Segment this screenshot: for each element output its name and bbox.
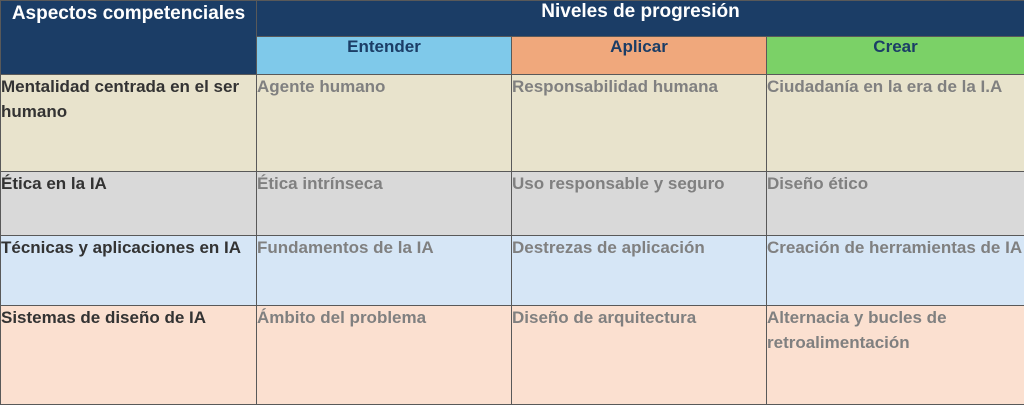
aspect-cell: Sistemas de diseño de IA bbox=[1, 306, 257, 405]
column-header-aplicar[interactable]: Aplicar bbox=[512, 37, 767, 75]
header-row-top: Aspectos competenciales Niveles de progr… bbox=[1, 1, 1024, 37]
aspect-cell: Técnicas y aplicaciones en IA bbox=[1, 236, 257, 306]
table-row: Sistemas de diseño de IA Ámbito del prob… bbox=[1, 306, 1024, 405]
level-cell-aplicar: Diseño de arquitectura bbox=[512, 306, 767, 405]
aspect-cell: Ética en la IA bbox=[1, 172, 257, 236]
level-cell-aplicar: Responsabilidad humana bbox=[512, 75, 767, 172]
level-cell-aplicar: Uso responsable y seguro bbox=[512, 172, 767, 236]
level-cell-aplicar: Destrezas de aplicación bbox=[512, 236, 767, 306]
level-cell-crear: Diseño ético bbox=[767, 172, 1024, 236]
column-header-crear[interactable]: Crear bbox=[767, 37, 1024, 75]
level-cell-entender: Fundamentos de la IA bbox=[257, 236, 512, 306]
level-cell-entender: Ámbito del problema bbox=[257, 306, 512, 405]
table-row: Mentalidad centrada en el ser humano Age… bbox=[1, 75, 1024, 172]
table-row: Técnicas y aplicaciones en IA Fundamento… bbox=[1, 236, 1024, 306]
level-cell-entender: Agente humano bbox=[257, 75, 512, 172]
aspect-cell: Mentalidad centrada en el ser humano bbox=[1, 75, 257, 172]
header-niveles-de-progresion: Niveles de progresión bbox=[257, 1, 1024, 37]
table-row: Ética en la IA Ética intrínseca Uso resp… bbox=[1, 172, 1024, 236]
level-cell-entender: Ética intrínseca bbox=[257, 172, 512, 236]
column-header-entender[interactable]: Entender bbox=[257, 37, 512, 75]
header-aspectos-competenciales: Aspectos competenciales bbox=[1, 1, 257, 75]
level-cell-crear: Creación de herramientas de IA bbox=[767, 236, 1024, 306]
level-cell-crear: Alternacia y bucles de retroalimentación bbox=[767, 306, 1024, 405]
competency-progression-table: Aspectos competenciales Niveles de progr… bbox=[0, 0, 1024, 405]
level-cell-crear: Ciudadanía en la era de la I.A bbox=[767, 75, 1024, 172]
